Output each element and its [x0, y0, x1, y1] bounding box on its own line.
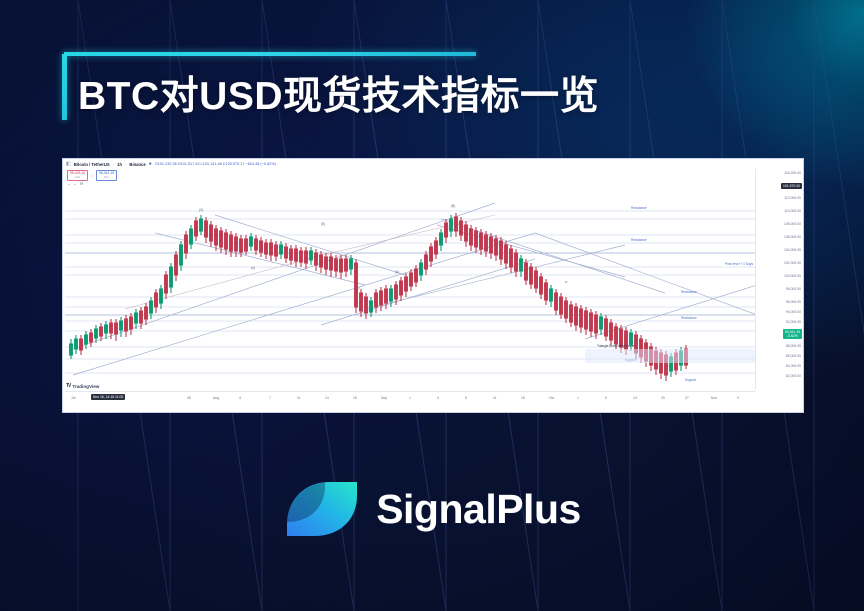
title-accent-top: [64, 52, 476, 56]
wave-label: (4): [251, 266, 255, 270]
price-tick: 108,000.00: [784, 222, 801, 226]
time-tick: 28: [187, 396, 191, 400]
tradingview-label: TradingView: [72, 384, 99, 389]
annotation-target-zone: Triangle Break target zone: [597, 344, 635, 348]
price-tick: 113,000.00: [784, 196, 801, 200]
wave-label: (5): [321, 222, 325, 226]
price-tick: 116,200.00: [784, 171, 801, 175]
annotation-resistance-3: Resistance: [681, 290, 697, 294]
chart-symbol[interactable]: Bitcoin / TetherUS: [74, 162, 110, 167]
price-tick: 88,000.00: [786, 344, 801, 348]
time-tick: 11: [493, 396, 497, 400]
time-tick: 7: [269, 396, 271, 400]
sell-price-badge[interactable]: 96,429.16 Sell: [67, 170, 88, 181]
wave-label: (C): [355, 286, 359, 290]
current-price-badge: 96,341.15 -0.62%: [783, 329, 802, 339]
wave-label: iv: [565, 280, 568, 284]
time-tick: Nov: [711, 396, 717, 400]
price-tick: 82,000.00: [786, 374, 801, 378]
time-tick: 27: [685, 396, 689, 400]
chart-interval[interactable]: 1h: [117, 162, 122, 167]
tradingview-chart-card[interactable]: ◧ Bitcoin / TetherUS · 1h · Binance ● O1…: [62, 158, 804, 413]
signalplus-wave-logo-icon: [283, 478, 361, 540]
header-separator-2: ·: [125, 162, 126, 167]
page-title: BTC对USD现货技术指标一览: [78, 65, 599, 121]
time-cursor-badge: Nov 16, 14:15 11:00: [91, 394, 125, 400]
header-separator-1: ·: [113, 162, 114, 167]
time-axis[interactable]: Jul Nov 16, 14:15 11:00 28 Aug 4 7 11 14…: [65, 391, 755, 410]
current-price-change: -0.62%: [785, 334, 800, 338]
market-status-dot: ●: [149, 162, 152, 167]
chart-header: ◧ Bitcoin / TetherUS · 1h · Binance ● O1…: [63, 159, 803, 169]
price-tick: 84,000.00: [786, 364, 801, 368]
price-tick: 94,000.00: [786, 310, 801, 314]
price-tick: 96,000.00: [786, 300, 801, 304]
chart-ohlc-values: O101,232.36 H101,517.43 L100,141.48 C100…: [155, 162, 276, 166]
tradingview-watermark: TV TradingView: [66, 383, 99, 389]
time-tick: Aug: [213, 396, 219, 400]
time-tick: 1: [409, 396, 411, 400]
candlestick-plot: (3) (4) (5) (A) (B) (C) iv v Resistance …: [65, 189, 755, 390]
annotation-support-2: Support: [685, 378, 696, 382]
annotation-resistance-1: Resistance: [631, 206, 647, 210]
annotation-resistance-2: Resistance: [631, 238, 647, 242]
annotation-resistance-4: Resistance: [681, 316, 697, 320]
price-tick: 110,000.00: [784, 209, 801, 213]
time-tick: 11: [297, 396, 301, 400]
time-tick: 8: [465, 396, 467, 400]
price-axis-dark-badge: 101,570.00: [781, 183, 802, 189]
symbol-icon: ◧: [66, 161, 71, 167]
price-tick: 106,000.00: [784, 235, 801, 239]
indicator-icon-2[interactable]: ⌄: [73, 181, 76, 186]
buy-price-badge[interactable]: 96,341.15 Buy: [96, 170, 117, 181]
price-tool-badges: 96,429.16 Sell = 96,341.15 Buy: [67, 170, 117, 181]
price-axis[interactable]: 116,200.00 101,570.00 113,000.00 110,000…: [755, 169, 803, 390]
brand-name: SignalPlus: [376, 486, 581, 533]
time-tick: 15: [521, 396, 525, 400]
badge-separator: =: [91, 174, 93, 178]
time-tick: 6: [605, 396, 607, 400]
annotation-pivot: Pivot level + 0 Days: [725, 262, 753, 266]
sell-price-label: Sell: [70, 176, 85, 179]
tradingview-logo-icon: TV: [66, 383, 70, 389]
wave-label: (B): [451, 204, 455, 208]
price-tick: 100,000.00: [784, 274, 801, 278]
chart-exchange[interactable]: Binance: [129, 162, 145, 167]
time-tick: 18: [353, 396, 357, 400]
price-tick: 104,000.00: [784, 248, 801, 252]
time-tick: Jul: [71, 396, 75, 400]
price-tick: 98,000.00: [786, 287, 801, 291]
time-tick: 14: [325, 396, 329, 400]
wave-label: (A): [395, 270, 399, 274]
brand-logo: SignalPlus: [0, 478, 864, 540]
time-tick: 20: [661, 396, 665, 400]
time-tick: 13: [633, 396, 637, 400]
price-tick: 86,000.00: [786, 354, 801, 358]
settings-gear-icon[interactable]: ⚙: [80, 181, 84, 186]
indicator-icon-1[interactable]: ⌄: [67, 181, 70, 186]
time-tick: 4: [239, 396, 241, 400]
chart-indicator-toolbar[interactable]: ⌄ ⌄ ⚙: [67, 181, 83, 186]
time-tick: 4: [437, 396, 439, 400]
buy-price-label: Buy: [99, 176, 114, 179]
wave-label: (3): [199, 208, 203, 212]
chart-plot-area[interactable]: (3) (4) (5) (A) (B) (C) iv v Resistance …: [65, 189, 755, 390]
wave-label: v: [667, 364, 669, 368]
time-tick: 3: [737, 396, 739, 400]
price-tick: 102,000.00: [784, 261, 801, 265]
target-zone-band: [585, 349, 755, 363]
time-tick: 1: [577, 396, 579, 400]
time-tick: Sep: [381, 396, 387, 400]
title-accent-left: [62, 54, 67, 120]
time-tick: Oct: [549, 396, 554, 400]
price-tick: 92,000.00: [786, 320, 801, 324]
